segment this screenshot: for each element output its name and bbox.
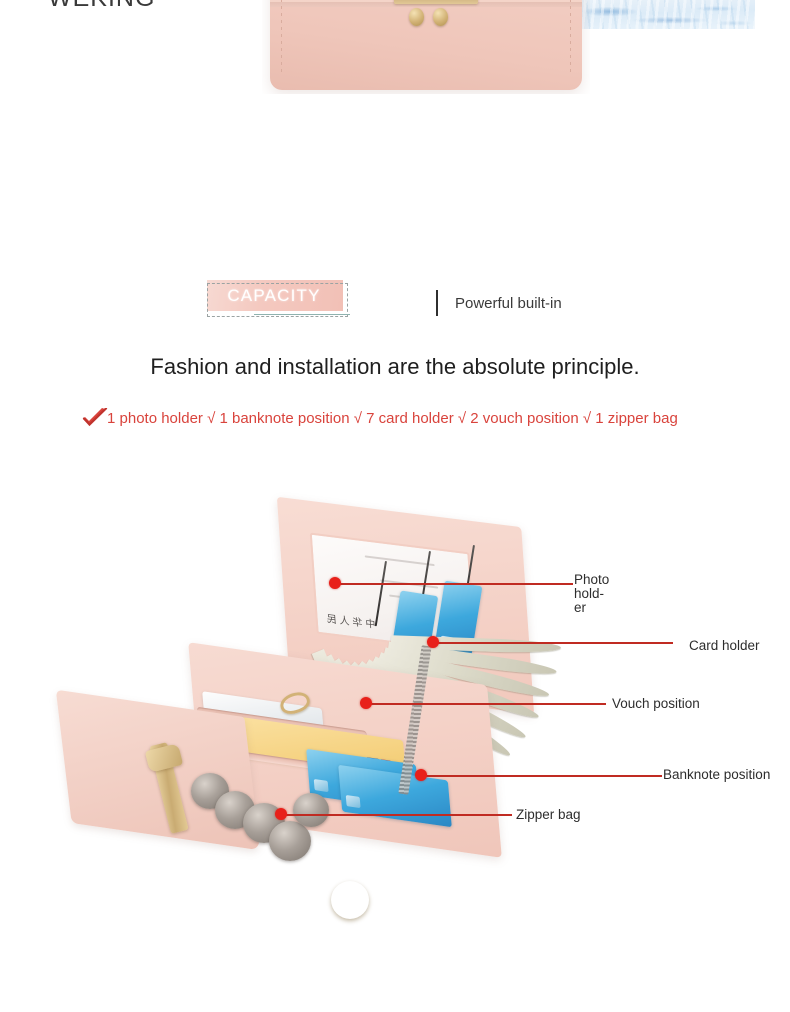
id-card-glyphs: 中华人民	[323, 609, 376, 631]
vertical-divider	[436, 290, 438, 316]
open-wallet-photo: 中华人民	[55, 495, 555, 940]
card-chip-icon	[314, 779, 329, 792]
annotation-line-vouch-position	[366, 703, 606, 705]
annotation-line-photo-holder	[335, 583, 573, 585]
annotation-label-photo-holder: Photo hold- er	[574, 573, 638, 615]
capacity-badge-dashed-border	[207, 283, 348, 317]
annotation-label-line2: er	[574, 600, 586, 615]
annotation-dot-zipper-bag	[275, 808, 287, 820]
closed-wallet-photo: PRETTYZYS LUCKY	[262, 0, 590, 94]
id-text-line	[365, 555, 435, 566]
annotation-line-card-holder	[433, 642, 673, 644]
powerful-builtin-text: Powerful built-in	[455, 295, 562, 312]
annotation-dot-vouch-position	[360, 697, 372, 709]
stitching-right	[570, 0, 571, 72]
product-detail-page: WEKING PRETTYZYS LUCKY	[0, 0, 790, 1012]
red-check-icon	[82, 408, 108, 428]
gold-stud-icon	[409, 8, 424, 26]
capacity-badge-underline	[254, 314, 350, 315]
annotation-dot-photo-holder	[329, 577, 341, 589]
coin	[293, 793, 329, 827]
card-chip-icon	[346, 795, 361, 808]
capacity-badge: CAPACITY	[206, 278, 352, 322]
annotation-dot-card-holder	[427, 636, 439, 648]
annotation-label-banknote-position: Banknote position	[663, 768, 770, 782]
annotation-line-banknote-position	[421, 775, 662, 777]
feature-summary-row: 1 photo holder √ 1 banknote position √ 7…	[82, 408, 678, 428]
annotation-label-line1: Photo hold-	[574, 572, 609, 601]
powerful-builtin-block: Powerful built-in	[436, 290, 562, 316]
annotation-label-vouch-position: Vouch position	[612, 697, 700, 711]
annotation-label-card-holder: Card holder	[689, 639, 760, 653]
gold-coin	[331, 881, 369, 919]
coin	[269, 821, 311, 861]
gold-stud-icon	[433, 8, 448, 26]
blue-texture-strip	[578, 0, 755, 29]
brand-plaque: PRETTYZYS LUCKY	[394, 0, 478, 4]
page-headline: Fashion and installation are the absolut…	[0, 354, 790, 380]
brand-word: WEKING	[48, 0, 155, 13]
annotation-line-zipper-bag	[281, 814, 512, 816]
feature-summary-text: 1 photo holder √ 1 banknote position √ 7…	[107, 410, 678, 427]
stitching-left	[281, 0, 282, 72]
annotation-dot-banknote-position	[415, 769, 427, 781]
wallet-body: PRETTYZYS LUCKY	[270, 0, 582, 90]
annotation-label-zipper-bag: Zipper bag	[516, 808, 581, 822]
